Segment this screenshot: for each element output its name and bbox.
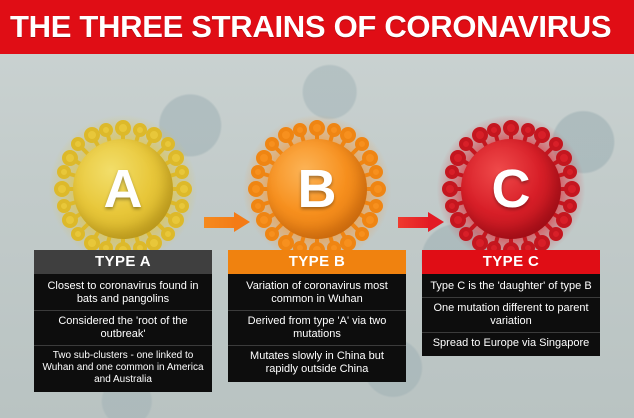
virus-letter-c: C — [436, 114, 586, 264]
card-body-type-b: Variation of coronavirus most common in … — [228, 274, 406, 382]
card-fact: Variation of coronavirus most common in … — [228, 276, 406, 311]
card-fact: Type C is the 'daughter' of type B — [422, 276, 600, 298]
card-fact: Two sub-clusters - one linked to Wuhan a… — [34, 346, 212, 390]
card-title-type-c: TYPE C — [422, 250, 600, 274]
card-type-a: TYPE A Closest to coronavirus found in b… — [34, 250, 212, 392]
card-title-type-b: TYPE B — [228, 250, 406, 274]
card-type-c: TYPE C Type C is the 'daughter' of type … — [422, 250, 600, 356]
virus-icon-c: C — [436, 114, 586, 264]
arrow-shaft — [398, 217, 430, 228]
arrow-shaft — [204, 217, 236, 228]
card-fact: Closest to coronavirus found in bats and… — [34, 276, 212, 311]
infographic-page: THE THREE STRAINS OF CORONAVIRUS — [0, 0, 634, 418]
virus-illustration-row: A — [0, 54, 634, 244]
page-title: THE THREE STRAINS OF CORONAVIRUS — [0, 9, 611, 45]
virus-icon-b: B — [242, 114, 392, 264]
header-bar: THE THREE STRAINS OF CORONAVIRUS — [0, 0, 634, 54]
card-fact: Derived from type 'A' via two mutations — [228, 311, 406, 346]
virus-letter-b: B — [242, 114, 392, 264]
virus-icon-a: A — [48, 114, 198, 264]
card-fact: Considered the 'root of the outbreak' — [34, 311, 212, 346]
card-body-type-c: Type C is the 'daughter' of type B One m… — [422, 274, 600, 356]
card-title-type-a: TYPE A — [34, 250, 212, 274]
card-fact: Mutates slowly in China but rapidly outs… — [228, 346, 406, 380]
card-fact: Spread to Europe via Singapore — [422, 333, 600, 354]
card-fact: One mutation different to parent variati… — [422, 298, 600, 333]
card-type-b: TYPE B Variation of coronavirus most com… — [228, 250, 406, 382]
virus-letter-a: A — [48, 114, 198, 264]
card-body-type-a: Closest to coronavirus found in bats and… — [34, 274, 212, 392]
